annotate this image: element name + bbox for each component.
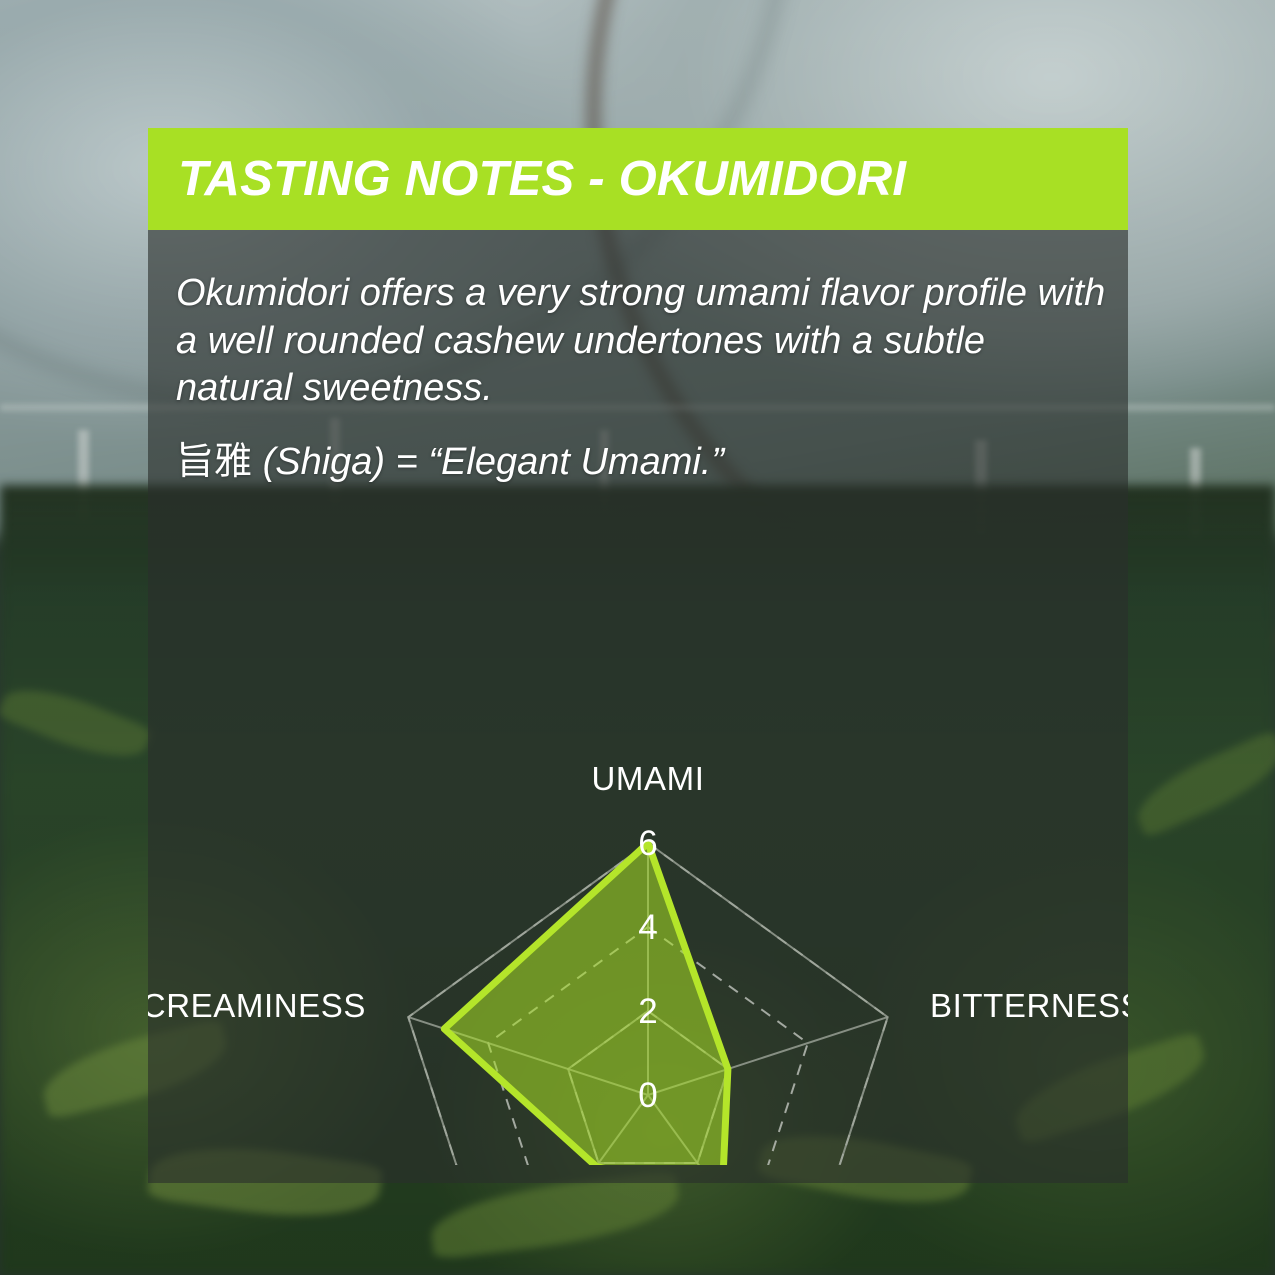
card-title-band: TASTING NOTES - OKUMIDORI <box>148 128 1128 230</box>
radar-axis-label-creaminess: CREAMINESS <box>148 987 366 1024</box>
japanese-romaji-meaning: (Shiga) = “Elegant Umami.” <box>252 441 724 483</box>
japanese-kanji: 旨雅 <box>176 441 252 483</box>
flavor-radar-chart[interactable]: 6 4 2 0 UMAMI BITTERNESS SWEET ASTRINGEN… <box>148 495 1128 1165</box>
radar-series-okumidori[interactable] <box>444 843 728 1165</box>
radar-axis-label-bitterness: BITTERNESS <box>930 987 1128 1024</box>
card-body: Okumidori offers a very strong umami fla… <box>148 230 1128 1183</box>
radar-tick-6: 6 <box>638 824 657 863</box>
radar-tick-0: 0 <box>638 1076 657 1115</box>
radar-tick-4: 4 <box>638 908 657 947</box>
japanese-translation-line: 旨雅 (Shiga) = “Elegant Umami.” <box>176 430 724 485</box>
tasting-notes-card: TASTING NOTES - OKUMIDORI Okumidori offe… <box>148 128 1128 1183</box>
radar-axis-label-umami: UMAMI <box>592 760 705 797</box>
radar-svg: 6 4 2 0 UMAMI BITTERNESS SWEET ASTRINGEN… <box>148 495 1128 1165</box>
radar-tick-2: 2 <box>638 992 657 1031</box>
page-title: TASTING NOTES - OKUMIDORI <box>178 151 906 207</box>
tasting-description: Okumidori offers a very strong umami fla… <box>176 270 1111 413</box>
